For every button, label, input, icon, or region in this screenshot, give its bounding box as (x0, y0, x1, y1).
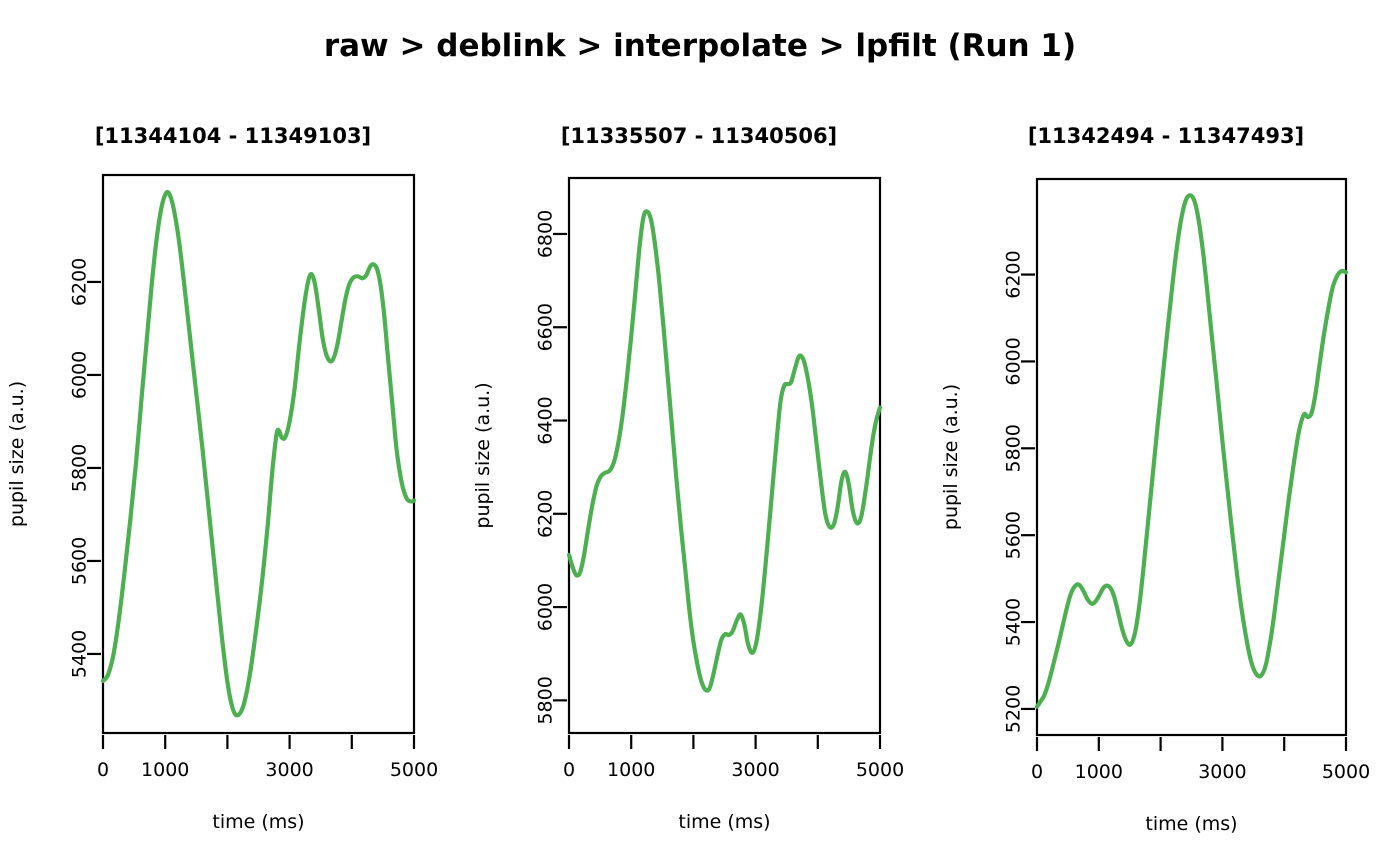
y-tick-label: 5600 (1002, 511, 1024, 559)
x-tick-label: 5000 (1322, 761, 1370, 783)
y-tick-label: 6400 (534, 396, 556, 444)
panel-2: [11335507 - 11340506] 010003000500058006… (466, 0, 932, 866)
panel-1: [11344104 - 11349103] 010003000500054005… (0, 0, 466, 866)
x-tick-label: 1000 (607, 759, 655, 781)
x-axis-title: time (ms) (678, 811, 770, 833)
pupillometry-figure: raw > deblink > interpolate > lpfilt (Ru… (0, 0, 1400, 866)
panel-1-plot[interactable]: 010003000500054005600580060006200pupil s… (0, 0, 466, 866)
x-tick-label: 1000 (141, 759, 189, 781)
x-tick-label: 5000 (390, 759, 438, 781)
x-tick-label: 5000 (856, 759, 904, 781)
y-axis-title: pupil size (a.u.) (940, 384, 962, 530)
y-axis-title: pupil size (a.u.) (472, 382, 494, 528)
x-tick-label: 0 (1031, 761, 1043, 783)
x-axis-title: time (ms) (212, 811, 304, 833)
y-tick-label: 6800 (534, 210, 556, 258)
y-tick-label: 6200 (1002, 250, 1024, 298)
x-tick-label: 3000 (731, 759, 779, 781)
y-tick-label: 5800 (534, 676, 556, 724)
panel-3: [11342494 - 11347493] 010003000500052005… (932, 0, 1400, 866)
panel-3-plot[interactable]: 0100030005000520054005600580060006200pup… (932, 0, 1400, 866)
panel-2-plot[interactable]: 0100030005000580060006200640066006800pup… (466, 0, 932, 866)
plot-frame (1037, 179, 1346, 735)
x-tick-label: 0 (563, 759, 575, 781)
pupil-size-line (1037, 195, 1346, 706)
y-tick-label: 5400 (1002, 598, 1024, 646)
x-tick-label: 1000 (1075, 761, 1123, 783)
y-tick-label: 5400 (68, 630, 90, 678)
y-tick-label: 6200 (68, 258, 90, 306)
x-tick-label: 3000 (265, 759, 313, 781)
y-tick-label: 6000 (534, 583, 556, 631)
y-axis-title: pupil size (a.u.) (6, 381, 28, 527)
pupil-size-line (103, 192, 414, 715)
x-tick-label: 0 (97, 759, 109, 781)
plot-frame (103, 175, 414, 733)
pupil-size-line (569, 211, 880, 690)
y-tick-label: 6000 (1002, 337, 1024, 385)
y-tick-label: 6600 (534, 303, 556, 351)
y-tick-label: 5600 (68, 537, 90, 585)
x-tick-label: 3000 (1198, 761, 1246, 783)
y-tick-label: 5800 (68, 444, 90, 492)
y-tick-label: 5800 (1002, 424, 1024, 472)
y-tick-label: 6200 (534, 490, 556, 538)
y-tick-label: 6000 (68, 351, 90, 399)
x-axis-title: time (ms) (1145, 813, 1237, 835)
y-tick-label: 5200 (1002, 685, 1024, 733)
